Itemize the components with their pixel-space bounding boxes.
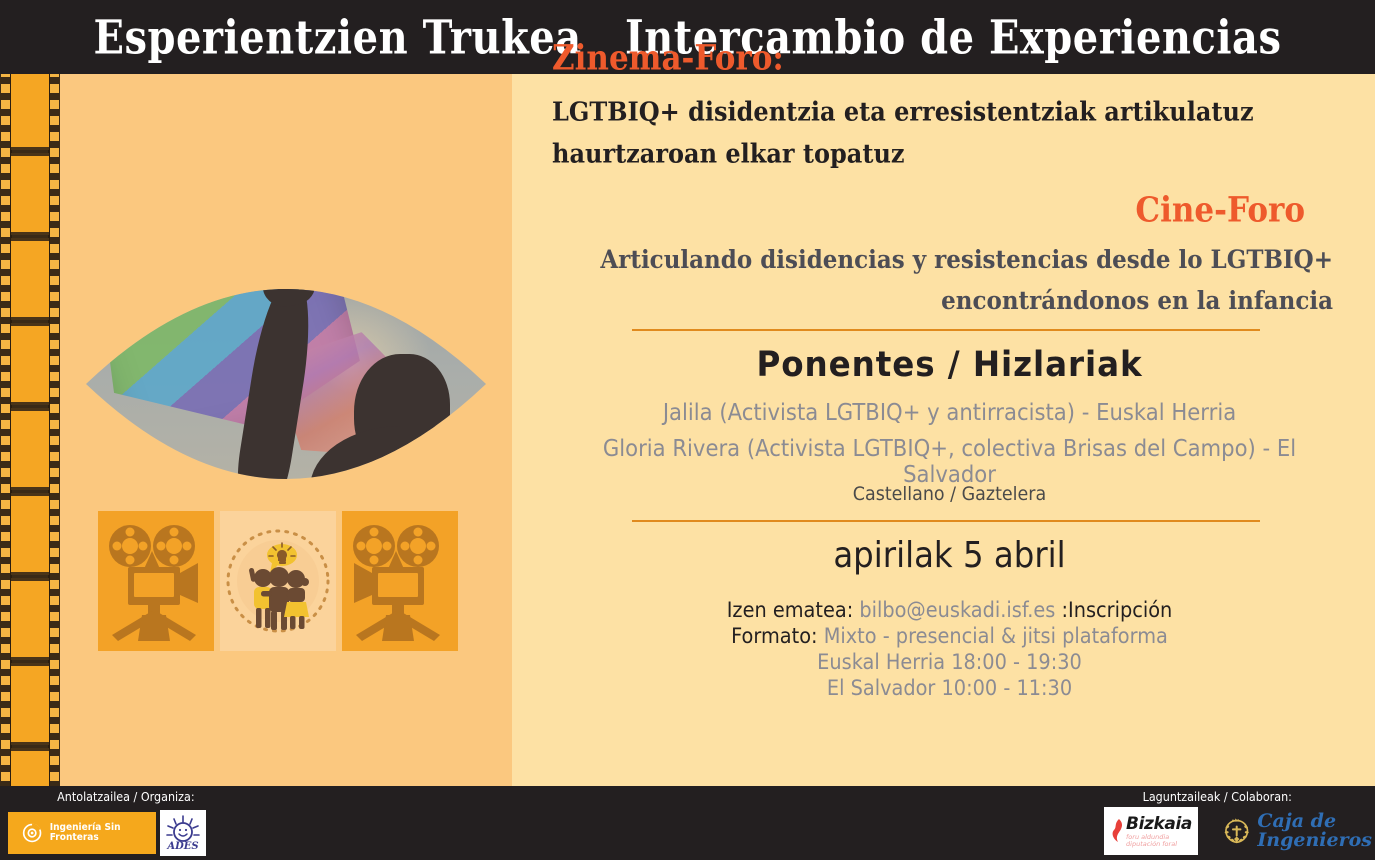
collaborators-label: Laguntzaileak / Colaboran: [1143,790,1292,804]
film-sprocket-hole [1,180,10,189]
pride-flag-photo [86,234,486,534]
film-sprocket-hole [1,308,10,317]
film-sprocket-hole [1,516,10,525]
film-sprocket-hole [50,404,59,413]
film-sprocket-hole [1,164,10,173]
film-sprocket-hole [50,660,59,669]
eu-title-line-1: LGTBIQ+ disidentzia eta erresistentziak … [552,95,1254,127]
registration-label-eu: Izen ematea: [727,598,853,622]
film-sprocket-hole [50,324,59,333]
film-sprockets-right [50,74,59,786]
film-sprocket-hole [50,356,59,365]
film-sprocket-hole [1,340,10,349]
film-sprocket-hole [1,756,10,765]
film-sprocket-hole [1,324,10,333]
film-sprocket-hole [50,772,59,781]
main-content: Zinema-Foro: LGTBIQ+ disidentzia eta err… [524,0,1375,712]
film-sprocket-hole [1,548,10,557]
bizkaia-flame-icon [1110,818,1126,844]
logo-ingenieria-sin-fronteras[interactable]: Ingeniería Sin Fronteras [8,812,156,854]
time-euskal-herria: Euskal Herria 18:00 - 19:30 [558,650,1341,674]
film-sprocket-hole [50,692,59,701]
film-frame [11,493,49,575]
film-sprocket-hole [50,532,59,541]
eu-kicker: Zinema-Foro: [552,38,784,78]
film-sprocket-hole [1,196,10,205]
film-frame [11,238,49,320]
film-sprocket-hole [1,404,10,413]
film-sprocket-hole [1,484,10,493]
poster: Esperientzien Trukea Intercambio de Expe… [0,0,1375,860]
film-frame [11,153,49,235]
film-sprocket-hole [50,388,59,397]
film-sprocket-hole [50,116,59,125]
time-euskal-herria-text: Euskal Herria 18:00 - 19:30 [817,650,1082,674]
film-sprocket-hole [50,500,59,509]
film-sprocket-hole [1,260,10,269]
film-sprocket-hole [1,372,10,381]
es-title-line-2: encontrándonos en la infancia [941,286,1333,316]
film-projector-icon [98,511,214,651]
film-frame [11,408,49,490]
bizkaia-sub-line-2: diputación foral [1126,841,1192,848]
film-sprocket-hole [50,164,59,173]
film-sprocket-hole [50,180,59,189]
film-frames [11,74,49,786]
film-sprocket-hole [50,628,59,637]
film-sprocket-hole [1,724,10,733]
film-sprocket-hole [1,644,10,653]
logo-caja-de-ingenieros[interactable]: Caja de Ingenieros [1222,806,1372,856]
registration-line: Izen ematea: bilbo@euskadi.isf.es :Inscr… [558,598,1341,622]
film-sprocket-hole [1,676,10,685]
time-el-salvador-text: El Salvador 10:00 - 11:30 [827,676,1072,700]
isf-swirl-icon [22,821,42,845]
film-sprocket-hole [50,74,59,77]
es-title-line-1: Articulando disidencias y resistencias d… [600,245,1333,275]
film-sprocket-hole [50,228,59,237]
film-sprocket-hole [1,468,10,477]
film-sprocket-hole [1,500,10,509]
bizkaia-logo-text: Bizkaia [1126,814,1192,834]
divider-rule-top [632,329,1260,331]
film-sprocket-hole [1,692,10,701]
film-sprockets-left [1,74,10,786]
film-frame [11,578,49,660]
film-sprocket-hole [1,452,10,461]
pride-flag-photo-clip [86,234,486,534]
film-sprocket-hole [50,436,59,445]
film-sprocket-hole [1,292,10,301]
film-sprocket-hole [1,100,10,109]
film-sprocket-hole [1,74,10,77]
film-sprocket-hole [50,516,59,525]
film-sprocket-hole [50,756,59,765]
people-group-idea-icon-box [220,511,336,651]
film-frame [11,74,49,150]
film-sprocket-hole [50,260,59,269]
film-sprocket-hole [50,724,59,733]
format-label: Formato: [731,624,817,648]
film-sprocket-hole [50,212,59,221]
film-sprocket-hole [50,100,59,109]
film-sprocket-hole [1,740,10,749]
film-sprocket-hole [1,244,10,253]
film-sprocket-hole [1,84,10,93]
film-sprocket-hole [50,548,59,557]
film-strip-decoration [0,74,60,786]
caja-logo-textblock: Caja de Ingenieros [1257,812,1372,850]
film-sprocket-hole [1,388,10,397]
film-projector-icon-box-right [342,511,458,651]
time-el-salvador: El Salvador 10:00 - 11:30 [558,676,1341,700]
film-sprocket-hole [50,420,59,429]
film-sprocket-hole [50,276,59,285]
language-note: Castellano / Gaztelera [558,483,1341,505]
film-sprocket-hole [1,228,10,237]
film-sprocket-hole [50,452,59,461]
divider-rule-bottom [632,520,1260,522]
film-sprocket-hole [50,308,59,317]
film-projector-icon-box-left [98,511,214,651]
film-sprocket-hole [1,532,10,541]
film-sprocket-hole [50,372,59,381]
film-projector-icon [342,511,458,651]
svg-text:ADES: ADES [166,841,198,852]
speaker-item: Gloria Rivera (Activista LGTBIQ+, colect… [558,436,1341,488]
logo-ades[interactable]: ADES [160,810,206,856]
caja-logo-text-line-2: Ingenieros [1257,831,1372,850]
film-sprocket-hole [1,660,10,669]
eu-title-line-2: haurtzaroan elkar topatuz [552,137,905,169]
left-panel [0,74,512,786]
bizkaia-logo-textblock: Bizkaia foru aldundia diputación foral [1126,814,1192,849]
icon-row [98,511,458,651]
registration-email[interactable]: bilbo@euskadi.isf.es [859,598,1055,622]
film-sprocket-hole [50,340,59,349]
speakers-heading: Ponentes / Hizlariak [554,345,1345,385]
film-sprocket-hole [50,484,59,493]
film-sprocket-hole [1,132,10,141]
format-value: Mixto - presencial & jitsi plataforma [824,624,1168,648]
film-frame [11,663,49,745]
registration-label-es: :Inscripción [1061,598,1172,622]
film-frame [11,748,49,786]
film-sprocket-hole [50,580,59,589]
film-sprocket-hole [50,468,59,477]
event-date: apirilak 5 abril [567,535,1333,576]
film-sprocket-hole [50,84,59,93]
film-frame [11,323,49,405]
film-sprocket-hole [1,612,10,621]
format-line: Formato: Mixto - presencial & jitsi plat… [558,624,1341,648]
organizers-label: Antolatzailea / Organiza: [57,790,194,804]
pride-flag-photo-image [86,234,486,534]
logo-bizkaia[interactable]: Bizkaia foru aldundia diputación foral [1104,807,1198,855]
film-sprocket-hole [50,292,59,301]
film-sprocket-hole [1,420,10,429]
film-sprocket-hole [1,436,10,445]
film-sprocket-hole [1,708,10,717]
film-sprocket-hole [1,564,10,573]
film-sprocket-hole [50,612,59,621]
es-kicker: Cine-Foro [1135,190,1305,230]
speaker-item: Jalila (Activista LGTBIQ+ y antirracista… [558,400,1341,426]
film-sprocket-hole [50,148,59,157]
film-sprocket-hole [1,628,10,637]
film-sprocket-hole [1,596,10,605]
film-sprocket-hole [50,132,59,141]
film-sprocket-hole [50,708,59,717]
isf-logo-text: Ingeniería Sin Fronteras [50,823,153,844]
film-sprocket-hole [50,644,59,653]
caja-laurel-wreath-icon [1222,809,1251,853]
film-sprocket-hole [1,580,10,589]
film-sprocket-hole [50,244,59,253]
film-sprocket-hole [50,676,59,685]
film-sprocket-hole [50,196,59,205]
ades-sun-face-icon: ADES [163,813,203,853]
film-sprocket-hole [50,740,59,749]
film-sprocket-hole [1,772,10,781]
film-sprocket-hole [50,564,59,573]
film-sprocket-hole [1,148,10,157]
film-sprocket-hole [1,276,10,285]
film-sprocket-hole [1,116,10,125]
film-sprocket-hole [1,356,10,365]
film-sprocket-hole [50,596,59,605]
people-group-idea-icon [220,511,336,651]
film-sprocket-hole [1,212,10,221]
